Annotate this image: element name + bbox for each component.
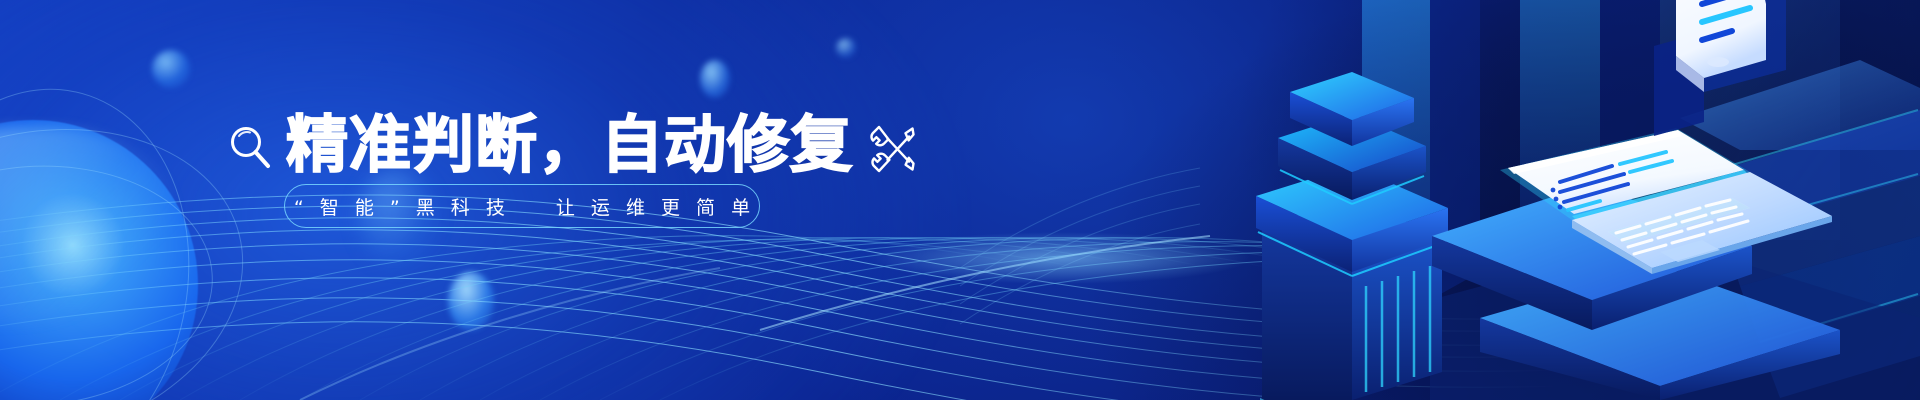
wrench-screwdriver-icon	[867, 123, 917, 175]
magnifier-icon	[228, 124, 272, 172]
subtitle-text: “ 智 能 ” 黑 科 技 让 运 维 更 简 单	[289, 193, 755, 220]
isometric-illustration	[960, 0, 1920, 400]
subtitle-pill: “ 智 能 ” 黑 科 技 让 运 维 更 简 单	[284, 184, 760, 228]
promo-banner: 精准判断，自动修复 “ 智 能 ” 黑 科 技 让 运 维 更 简 单	[0, 0, 1920, 400]
headline-row: 精准判断，自动修复	[228, 112, 917, 178]
headline-title: 精准判断，自动修复	[286, 112, 853, 178]
